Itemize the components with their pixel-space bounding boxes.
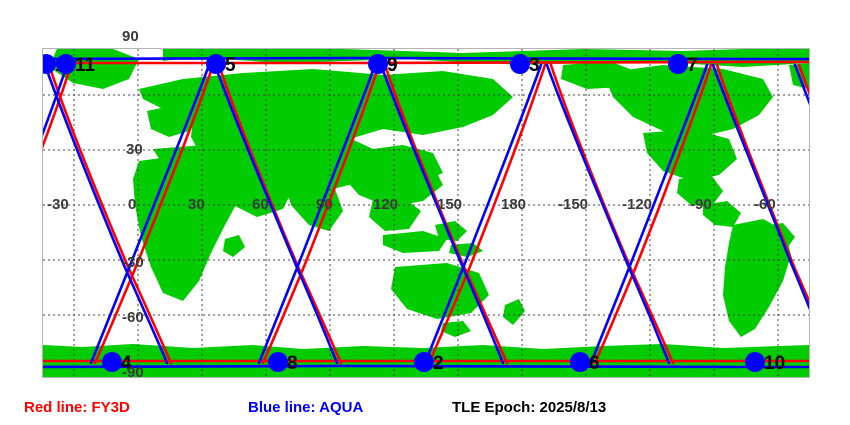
xtick-label-0: 0 (128, 196, 136, 213)
xtick-label-120: 120 (373, 196, 398, 213)
ground-track-map-figure: 90 (0, 0, 850, 425)
xtick-label-60: 60 (252, 196, 269, 213)
xtick-label-150: 150 (437, 196, 462, 213)
legend-tle-epoch: TLE Epoch: 2025/8/13 (452, 399, 606, 416)
xtick-label-90: 90 (316, 196, 333, 213)
xtick-label-180: 180 (501, 196, 526, 213)
ytick-label-90: 90 (122, 28, 139, 45)
legend-blue-line: Blue line: AQUA (248, 399, 363, 416)
ytick-label--30: -30 (122, 254, 144, 271)
ytick-label-30: 30 (126, 141, 143, 158)
xtick-label--150: -150 (558, 196, 588, 213)
legend-red-line: Red line: FY3D (24, 399, 130, 416)
ytick-label--60: -60 (122, 309, 144, 326)
xtick-label--90: -90 (690, 196, 712, 213)
ytick-label--90: -90 (122, 364, 144, 381)
map-plot-area: 1115937482610 (42, 48, 810, 378)
map-canvas (43, 49, 809, 377)
xtick-label--30: -30 (47, 196, 69, 213)
xtick-label--120: -120 (622, 196, 652, 213)
xtick-label-30: 30 (188, 196, 205, 213)
xtick-label--60: -60 (754, 196, 776, 213)
